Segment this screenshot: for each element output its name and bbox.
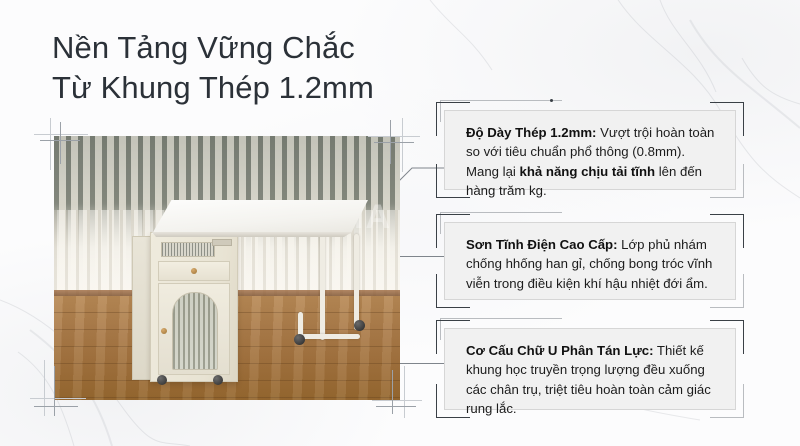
cabinet-door <box>158 283 230 375</box>
page-title: Nền Tảng Vững Chắc Từ Khung Thép 1.2mm <box>52 28 374 109</box>
card-1-body-emphasis: khả năng chịu tải tĩnh <box>520 164 656 179</box>
card-2-bracket-bl <box>436 274 470 308</box>
product-photo: HA <box>54 136 400 400</box>
card-3-bracket-bl <box>436 384 470 418</box>
cabinet-caster-left <box>157 375 167 385</box>
card-2-bracket-br <box>710 274 744 308</box>
table-top-edge <box>152 232 352 237</box>
feature-card-2: Sơn Tĩnh Điện Cao Cấp: Lớp phủ nhám chốn… <box>444 222 736 300</box>
card-3-bracket-br <box>710 384 744 418</box>
crosshair-top-left <box>34 118 88 170</box>
feature-card-1: Độ Dày Thép 1.2mm: Vượt trội hoàn toàn s… <box>444 110 736 190</box>
card-2-text: Sơn Tĩnh Điện Cao Cấp: Lớp phủ nhám chốn… <box>444 222 736 305</box>
crosshair-bottom-left <box>30 360 86 416</box>
cabinet-caster-right <box>213 375 223 385</box>
storage-cabinet <box>150 232 238 382</box>
table-top <box>152 200 368 234</box>
cabinet-drawer <box>158 261 230 281</box>
card-1-bracket-br <box>710 164 744 198</box>
card-1-title: Độ Dày Thép 1.2mm: <box>466 125 596 140</box>
card-1-bracket-bl <box>436 164 470 198</box>
cabinet-label-tag <box>212 239 232 246</box>
feature-card-3: Cơ Cấu Chữ U Phân Tán Lực: Thiết kế khun… <box>444 328 736 410</box>
card-1-text: Độ Dày Thép 1.2mm: Vượt trội hoàn toàn s… <box>444 110 736 213</box>
product-photo-image: HA <box>54 136 400 400</box>
folding-leg-frame <box>292 234 374 354</box>
card-3-text: Cơ Cấu Chữ U Phân Tán Lực: Thiết kế khun… <box>444 328 736 431</box>
card-1-bracket-tr <box>710 102 744 136</box>
card-2-title: Sơn Tĩnh Điện Cao Cấp: <box>466 237 618 252</box>
card-3-bracket-tl <box>436 320 470 354</box>
card-2-bracket-tr <box>710 214 744 248</box>
crosshair-bottom-right <box>372 366 422 418</box>
cabinet-vent <box>161 242 215 257</box>
card-2-bracket-tl <box>436 214 470 248</box>
fluted-glass-panel <box>172 292 218 370</box>
card-3-bracket-tr <box>710 320 744 354</box>
leg-caster-right <box>354 320 365 331</box>
card-1-bracket-tl <box>436 102 470 136</box>
card-3-title: Cơ Cấu Chữ U Phân Tán Lực: <box>466 343 653 358</box>
drawer-knob <box>191 268 197 274</box>
furniture-group <box>54 136 400 400</box>
crosshair-top-right <box>368 118 420 172</box>
door-knob <box>161 328 167 334</box>
connector-line-2 <box>392 255 452 259</box>
leg-caster-left <box>294 334 305 345</box>
